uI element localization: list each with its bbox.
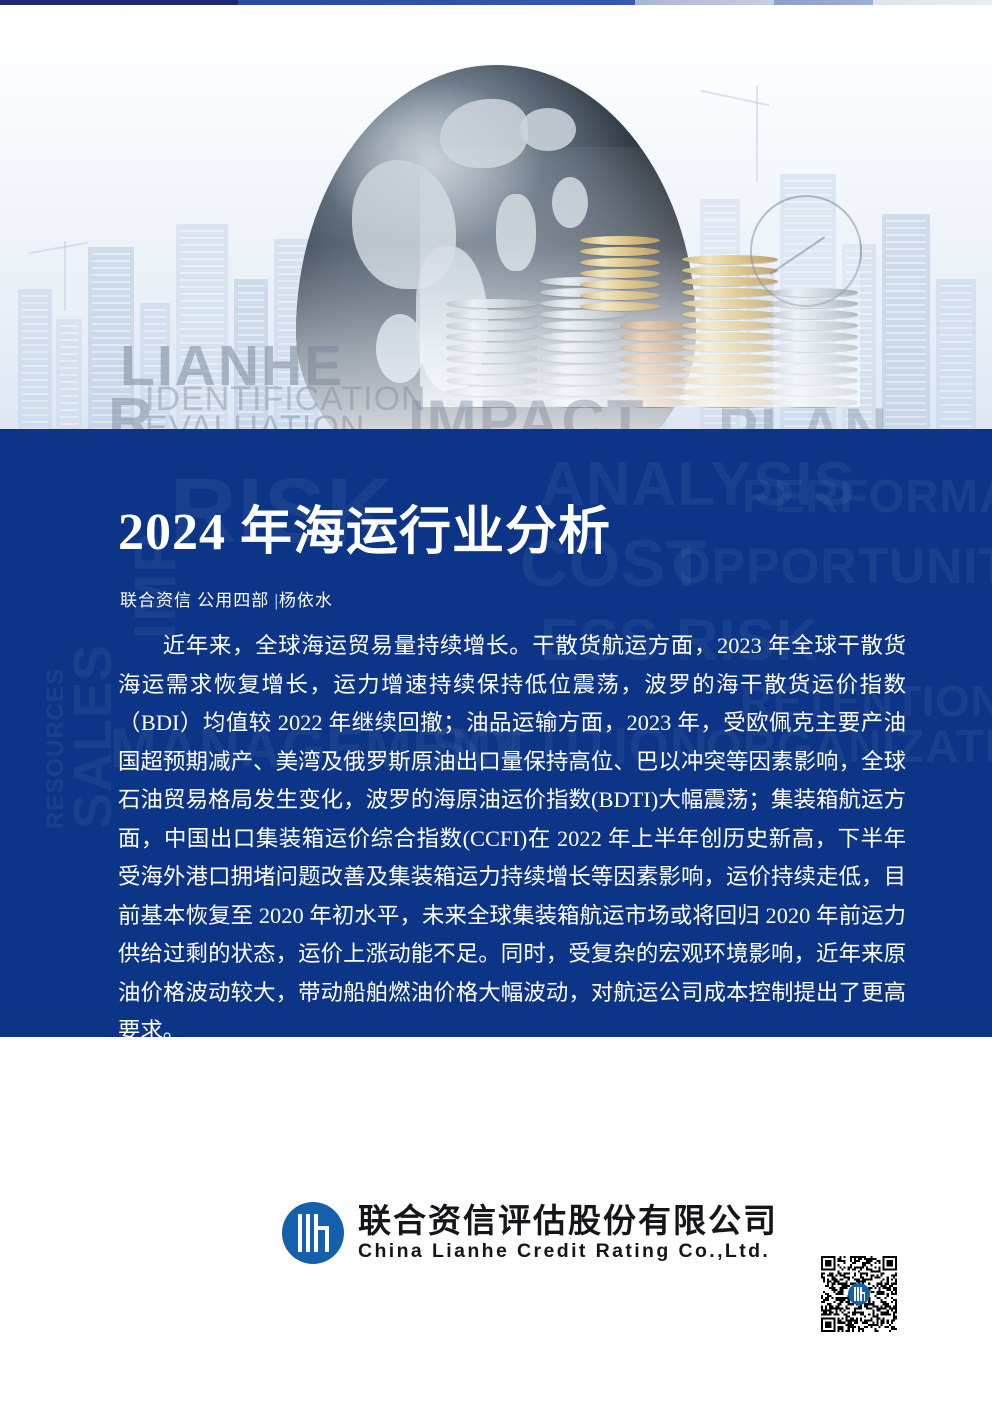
watermark-evaluation: EVALUATION <box>145 409 365 429</box>
author-byline: 联合资信 公用四部 |杨依水 <box>120 586 333 611</box>
hero-cover-image: LIANHE R IDENTIFICATION EVALUATION IMPAC… <box>0 5 992 429</box>
abstract-text: 近年来，全球海运贸易量持续增长。干散货航运方面，2023 年全球干散货海运需求恢… <box>118 627 906 1037</box>
qr-center-logo-icon <box>848 1283 870 1305</box>
page-title: 2024 年海运行业分析 <box>118 489 611 564</box>
watermark-impact: IMPACT <box>408 387 646 429</box>
qr-code[interactable] <box>821 1256 897 1332</box>
panel-watermark-performance: PERFORMANCE <box>742 469 992 523</box>
company-logo: 联合资信评估股份有限公司 China Lianhe Credit Rating … <box>282 1202 778 1264</box>
panel-watermark-opportunity: OPPORTUNITY <box>672 537 992 595</box>
watermark-plan: PLAN <box>718 395 889 429</box>
company-name-en: China Lianhe Credit Rating Co.,Ltd. <box>358 1239 778 1263</box>
company-name-cn: 联合资信评估股份有限公司 <box>358 1203 778 1239</box>
panel-watermark-resources: RESOURCES <box>42 668 70 829</box>
title-panel: ANALYSIS PERFORMANCE COST OPPORTUNITY ES… <box>0 429 992 1037</box>
lianhe-logo-icon <box>282 1202 344 1264</box>
coin-stacks-graphic <box>420 147 860 407</box>
panel-watermark-sales: SALES <box>62 644 124 829</box>
